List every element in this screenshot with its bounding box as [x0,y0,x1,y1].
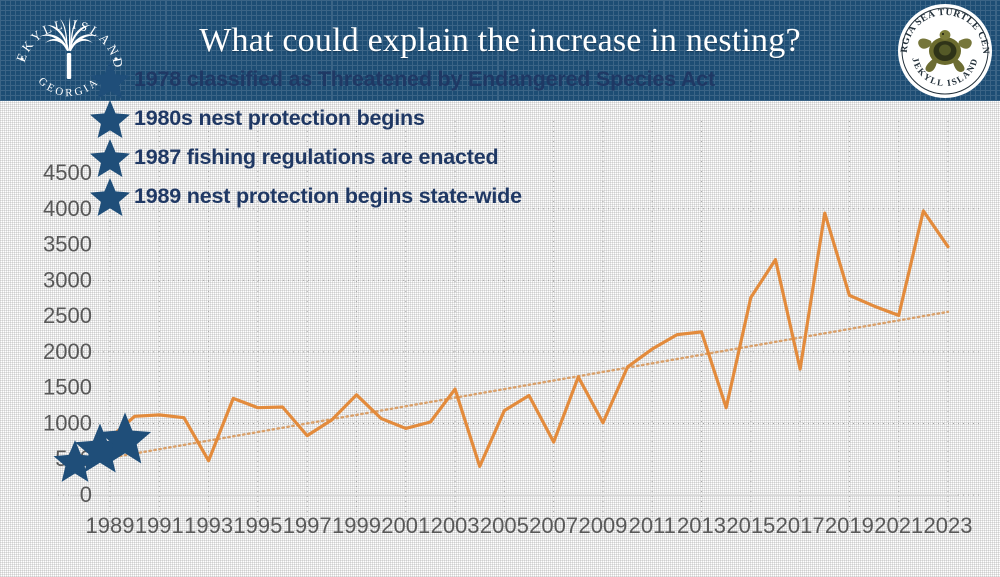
x-tick-label: 2001 [381,513,430,538]
annotation-text: 1980s nest protection begins [134,106,425,131]
x-tick-label: 1999 [332,513,381,538]
nesting-data-series [110,211,948,466]
y-tick-label: 3000 [43,267,92,292]
y-tick-label: 0 [80,482,92,507]
x-tick-label: 2011 [629,513,676,538]
x-tick-label: 1993 [184,513,233,538]
y-tick-label: 2500 [43,303,92,328]
y-tick-label: 2000 [43,339,92,364]
y-tick-label: 1500 [43,375,92,400]
x-tick-label: 1997 [283,513,332,538]
x-tick-label: 2019 [825,513,874,538]
x-tick-label: 2017 [776,513,825,538]
slide: JEKYLL ISLAND GEORGIA [0,0,1000,577]
x-tick-label: 2021 [874,513,923,538]
x-tick-label: 2013 [677,513,726,538]
star-icon [97,410,153,466]
x-tick-label: 2005 [480,513,529,538]
y-tick-label: 4000 [43,196,92,221]
annotation-item: 1989 nest protection begins state-wide [88,177,848,216]
y-tick-label: 3500 [43,232,92,257]
x-tick-label: 2007 [529,513,578,538]
x-tick-label: 2015 [726,513,775,538]
x-tick-label: 1991 [135,513,184,538]
annotation-text: 1989 nest protection begins state-wide [134,184,522,209]
x-tick-label: 2023 [924,513,973,538]
annotation-text: 1987 fishing regulations are enacted [134,145,498,170]
annotation-list: 1978 classified as Threatened by Endange… [88,60,848,216]
star-icon [88,176,132,218]
annotation-item: 1980s nest protection begins [88,99,848,138]
annotation-item: 1978 classified as Threatened by Endange… [88,60,848,99]
star-icon [88,98,132,140]
georgia-sea-turtle-center-logo: GEORGIA SEA TURTLE CENTER JEKYLL ISLAND [898,4,992,98]
x-tick-label: 1995 [233,513,282,538]
x-tick-label: 2003 [431,513,480,538]
y-tick-label: 4500 [43,160,92,185]
annotation-text: 1978 classified as Threatened by Endange… [134,67,715,92]
star-icon [88,137,132,179]
x-axis-labels: 1989199119931995199719992001200320052007… [86,513,973,538]
trendline-series [110,312,948,458]
page-title: What could explain the increase in nesti… [0,22,1000,60]
x-tick-label: 1989 [86,513,135,538]
x-tick-label: 2009 [578,513,627,538]
annotation-item: 1987 fishing regulations are enacted [88,138,848,177]
star-icon [88,59,132,101]
